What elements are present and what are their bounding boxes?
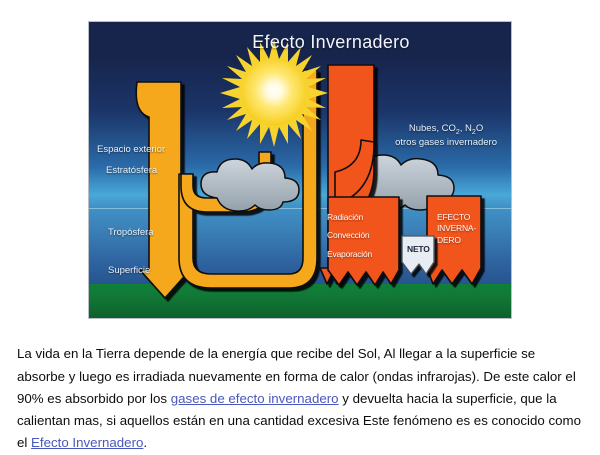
gases-text-2: , N (460, 123, 472, 134)
efecto-line-3: DERO (437, 235, 476, 246)
efecto-line-2: INVERNA- (437, 223, 476, 234)
body-paragraph: La vida en la Tierra depende de la energ… (17, 343, 583, 454)
gases-caption-line1: Nubes, CO2, N2O (395, 123, 497, 137)
sun-core (241, 60, 307, 126)
efecto-line-1: EFECTO (437, 212, 476, 223)
flux-label-evaporacion: Evaporación (327, 249, 372, 259)
back-radiation-arrow-left (328, 197, 399, 285)
caption-link-3[interactable]: Efecto Invernadero (31, 435, 143, 450)
greenhouse-gases-caption: Nubes, CO2, N2O otros gases invernadero (395, 123, 497, 150)
neto-badge (402, 236, 434, 274)
caption-link-1[interactable]: gases de efecto invernadero (171, 391, 339, 406)
layer-label-superficie: Superficie (108, 265, 150, 276)
figure-title: Efecto Invernadero (89, 32, 511, 53)
figure-stage: Efecto Invernadero Espacio exterior Estr… (89, 22, 511, 318)
layer-label-troposfera: Tropósfera (108, 227, 154, 238)
layer-label-espacio-exterior: Espacio exterior (97, 144, 165, 155)
gases-text-3: O (476, 123, 483, 134)
layer-label-estratosfera: Estratósfera (106, 165, 157, 176)
flux-label-efecto-invernadero: EFECTO INVERNA- DERO (437, 212, 476, 246)
gases-text-1: Nubes, CO (409, 123, 456, 134)
caption-text-4: . (143, 435, 147, 450)
greenhouse-effect-figure: Efecto Invernadero Espacio exterior Estr… (88, 21, 512, 319)
flux-label-neto: NETO (407, 244, 430, 254)
sun-icon (220, 39, 328, 147)
flux-label-conveccion: Convección (327, 230, 369, 240)
flux-label-radiacion: Radiación (327, 212, 363, 222)
gases-caption-line2: otros gases invernadero (395, 137, 497, 150)
